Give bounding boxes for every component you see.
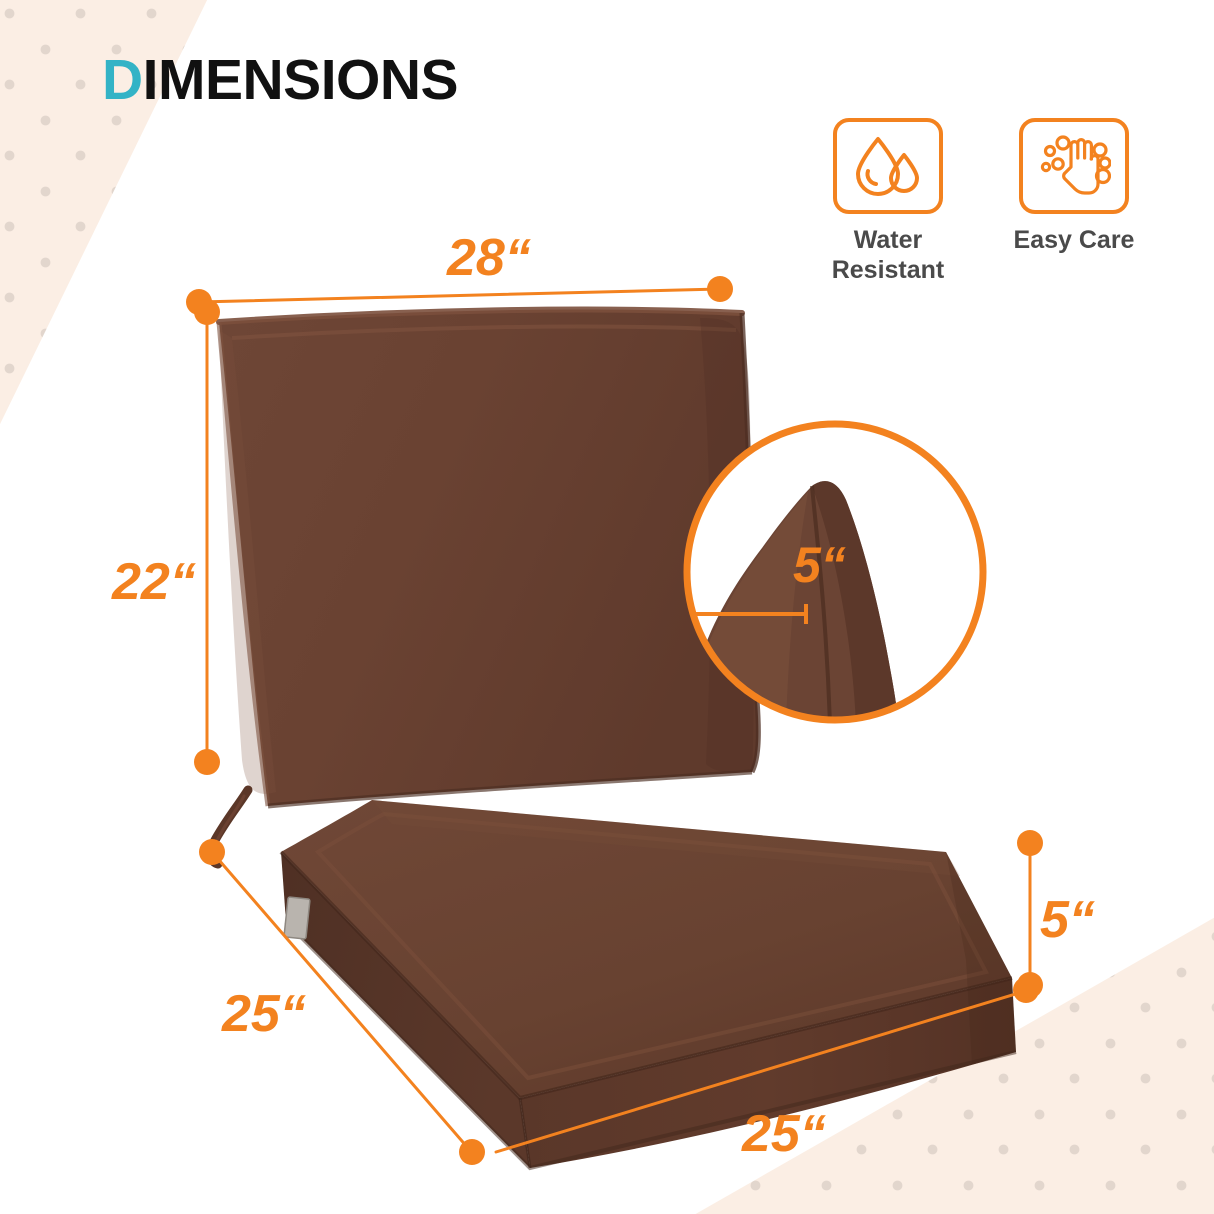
infographic-canvas: DIMENSIONS Water Resistant bbox=[0, 0, 1214, 1214]
dimension-labels: 28“ 22“ 25“ 25“ 5“ 5“ bbox=[0, 0, 1214, 1214]
dimension-label-25-inch-depth: 25“ bbox=[222, 988, 306, 1040]
dimension-label-25-inch-width: 25“ bbox=[742, 1108, 826, 1160]
dimension-label-5-inch-back-thickness: 5“ bbox=[793, 540, 846, 590]
dimension-label-22-inch: 22“ bbox=[112, 556, 196, 608]
dimension-label-28-inch: 28“ bbox=[447, 232, 531, 284]
dimension-label-5-inch-thickness: 5“ bbox=[1040, 894, 1095, 946]
